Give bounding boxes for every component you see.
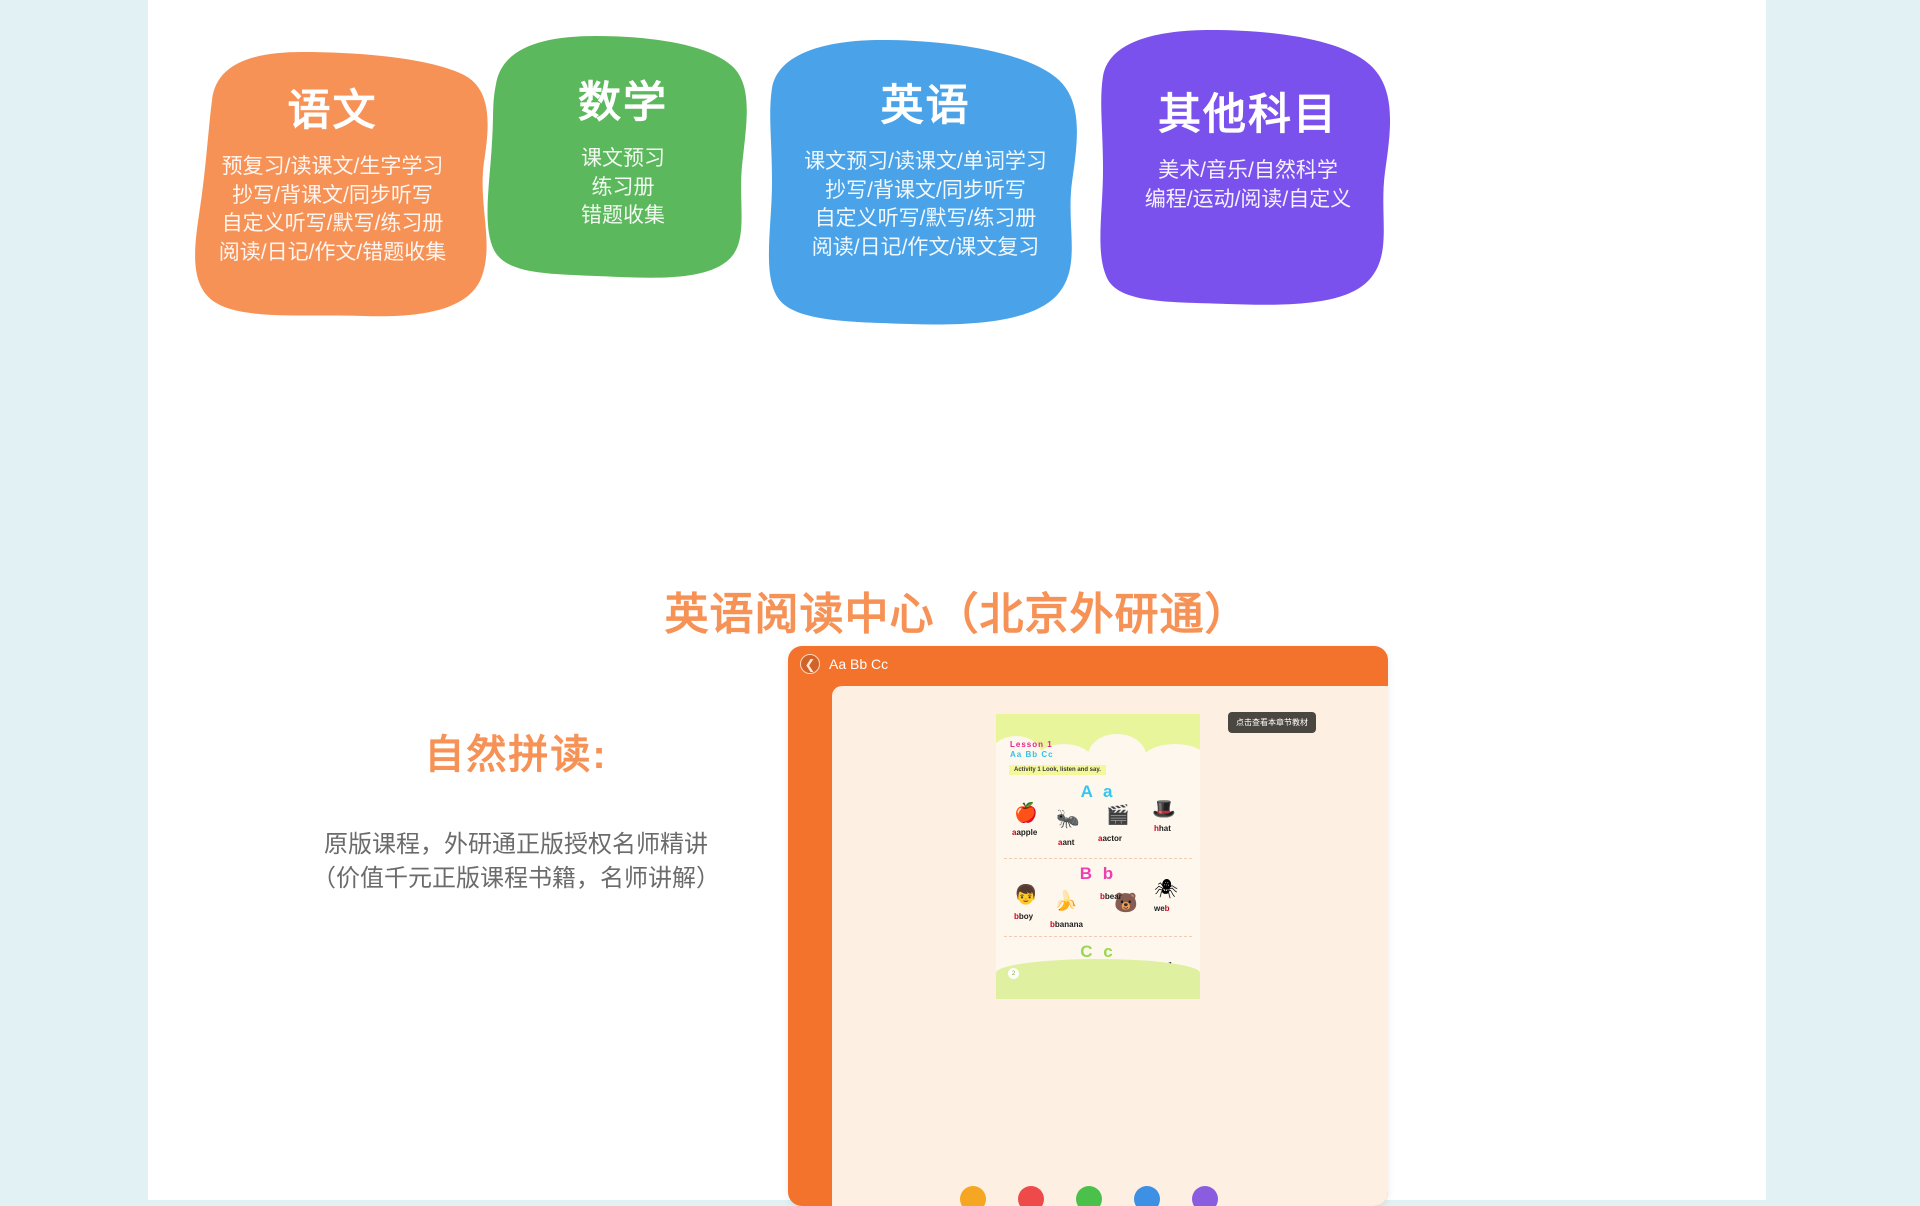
actor-icon: 🎬 [1106,806,1130,825]
tool-dot-purple[interactable] [1192,1186,1218,1206]
subject-card-line: 课文预习 [581,145,665,174]
boy-icon: 👦 [1014,886,1038,905]
view-chapter-textbook-button[interactable]: 点击查看本章节教材 [1228,712,1316,733]
subject-card-line: 练习册 [581,174,665,203]
subject-card-line: 课文预习/读课文/单词学习 [804,148,1047,177]
subject-card-title: 语文 [288,90,378,133]
subject-card-line: 预复习/读课文/生字学习 [219,153,447,182]
page-content: 语文 预复习/读课文/生字学习 抄写/背课文/同步听写 自定义听写/默写/练习册… [148,0,1766,1200]
tablet-screen: 点击查看本章节教材 Lesson 1 Aa Bb Cc Activity 1 L… [832,686,1388,1206]
subject-card-title: 英语 [881,85,971,128]
subject-card-line: 阅读/日记/作文/课文复习 [804,234,1047,263]
word-label: aant [1058,838,1074,847]
web-icon: 🕷 [1154,880,1178,899]
phonics-body-line: 原版课程，外研通正版授权名师精讲 [226,828,806,862]
sheet-grass [996,959,1200,999]
chevron-left-icon[interactable]: ❮ [800,654,820,674]
page-number: 2 [1008,968,1019,979]
hat-icon: 🎩 [1152,800,1176,819]
word-label: web [1154,904,1170,913]
subject-card-english[interactable]: 英语 课文预习/读课文/单词学习 抄写/背课文/同步听写 自定义听写/默写/练习… [758,30,1093,330]
phonics-row-b: B b 👦 bboy 🍌 bbanana 🐻 bbear 🕷 web [996,864,1200,936]
subject-card-title: 数学 [578,82,668,125]
tool-dot-orange[interactable] [960,1186,986,1206]
subject-card-title: 其他科目 [1158,94,1338,137]
word-label: bboy [1014,912,1033,921]
subject-card-line: 自定义听写/默写/练习册 [804,205,1047,234]
activity-label: Activity 1 Look, listen and say. [1009,765,1106,775]
subject-card-line: 错题收集 [581,202,665,231]
tablet-bar-title: Aa Bb Cc [829,656,888,672]
subject-card-chinese[interactable]: 语文 预复习/读课文/生字学习 抄写/背课文/同步听写 自定义听写/默写/练习册… [160,28,505,323]
tool-dot-red[interactable] [1018,1186,1044,1206]
ant-icon: 🐜 [1056,810,1080,829]
subject-card-lines: 课文预习 练习册 错题收集 [581,145,665,231]
section-heading: 英语阅读中心（北京外研通） [148,578,1766,642]
lesson-label: Lesson 1 [1010,740,1053,749]
word-label: hhat [1154,824,1171,833]
phonics-row-a: A a 🍎 aapple 🐜 aant 🎬 aactor 🎩 hhat [996,782,1200,854]
phonics-copy-block: 自然拼读: 原版课程，外研通正版授权名师精讲 （价值千元正版课程书籍，名师讲解） [226,722,806,896]
subject-card-line: 自定义听写/默写/练习册 [219,210,447,239]
row-divider [1004,858,1192,859]
subject-card-lines: 美术/音乐/自然科学 编程/运动/阅读/自定义 [1145,157,1352,214]
subject-card-lines: 预复习/读课文/生字学习 抄写/背课文/同步听写 自定义听写/默写/练习册 阅读… [219,153,447,267]
right-background-strip [1766,0,1920,1200]
word-label: aactor [1098,834,1122,843]
phonics-body-line: （价值千元正版课程书籍，名师讲解） [226,862,806,896]
subject-card-line: 抄写/背课文/同步听写 [219,182,447,211]
tablet-top-bar: ❮ Aa Bb Cc [788,646,1388,682]
tablet-mockup: ❮ Aa Bb Cc 点击查看本章节教材 Lesson 1 Aa Bb Cc A… [788,646,1388,1206]
apple-icon: 🍎 [1014,804,1038,823]
banana-icon: 🍌 [1054,892,1078,911]
lesson-subtitle: Aa Bb Cc [1010,750,1054,759]
row-letter: B b [1080,864,1116,884]
tool-dots [960,1186,1218,1206]
tool-dot-green[interactable] [1076,1186,1102,1206]
subject-card-line: 编程/运动/阅读/自定义 [1145,186,1352,215]
lesson-sheet[interactable]: Lesson 1 Aa Bb Cc Activity 1 Look, liste… [996,714,1200,999]
phonics-title: 自然拼读: [226,722,806,780]
subject-card-line: 美术/音乐/自然科学 [1145,157,1352,186]
word-label: aapple [1012,828,1037,837]
word-label: bbanana [1050,920,1083,929]
subject-card-math[interactable]: 数学 课文预习 练习册 错题收集 [478,22,768,282]
subject-card-other[interactable]: 其他科目 美术/音乐/自然科学 编程/运动/阅读/自定义 [1093,22,1403,307]
subject-card-line: 阅读/日记/作文/错题收集 [219,239,447,268]
row-divider [1004,936,1192,937]
tool-dot-blue[interactable] [1134,1186,1160,1206]
subject-card-lines: 课文预习/读课文/单词学习 抄写/背课文/同步听写 自定义听写/默写/练习册 阅… [804,148,1047,262]
word-label: bbear [1100,892,1122,901]
left-background-strip [0,0,148,1200]
phonics-body: 原版课程，外研通正版授权名师精讲 （价值千元正版课程书籍，名师讲解） [226,828,806,896]
subject-cards: 语文 预复习/读课文/生字学习 抄写/背课文/同步听写 自定义听写/默写/练习册… [148,0,1766,400]
row-letter: A a [1081,782,1116,802]
subject-card-line: 抄写/背课文/同步听写 [804,177,1047,206]
